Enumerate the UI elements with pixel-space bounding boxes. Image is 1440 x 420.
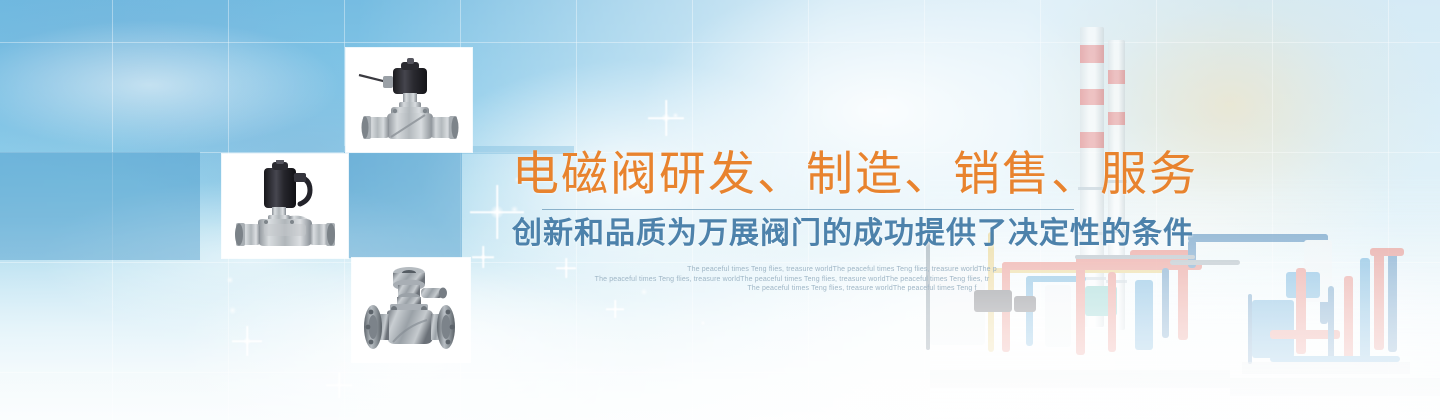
bokeh-dot <box>228 306 237 315</box>
hero-banner: 电磁阀研发、制造、销售、服务 创新和品质为万展阀门的成功提供了决定性的条件 Th… <box>0 0 1440 420</box>
solenoid-valve-threaded-icon <box>353 55 465 145</box>
product-thumbnail-solenoid-valve-threaded-top[interactable] <box>346 48 472 152</box>
banner-copy: 电磁阀研发、制造、销售、服务 创新和品质为万展阀门的成功提供了决定性的条件 Th… <box>512 148 1112 294</box>
accent-panel <box>344 152 462 258</box>
bokeh-dot <box>672 112 679 119</box>
accent-panel <box>0 152 200 260</box>
solenoid-valve-flanged-icon <box>357 264 465 356</box>
solenoid-valve-upright-icon <box>230 160 340 252</box>
product-thumbnail-solenoid-valve-threaded-mid[interactable] <box>222 154 348 258</box>
product-image <box>352 258 470 362</box>
banner-subheadline: 创新和品质为万展阀门的成功提供了决定性的条件 <box>512 216 1112 251</box>
banner-headline: 电磁阀研发、制造、销售、服务 <box>512 148 1112 201</box>
product-image <box>346 48 472 152</box>
bokeh-dot <box>700 320 706 326</box>
product-image <box>222 154 348 258</box>
bokeh-dot <box>226 276 234 284</box>
microcopy-line-1: The peaceful times Teng flies, treasure … <box>512 265 1072 275</box>
microcopy-line-2: The peaceful times Teng flies, treasure … <box>512 275 1072 285</box>
headline-divider <box>542 209 1074 210</box>
banner-microcopy: The peaceful times Teng flies, treasure … <box>512 265 1072 294</box>
microcopy-line-3: The peaceful times Teng flies, treasure … <box>512 284 1072 294</box>
product-thumbnail-solenoid-valve-flanged-bottom[interactable] <box>352 258 470 362</box>
